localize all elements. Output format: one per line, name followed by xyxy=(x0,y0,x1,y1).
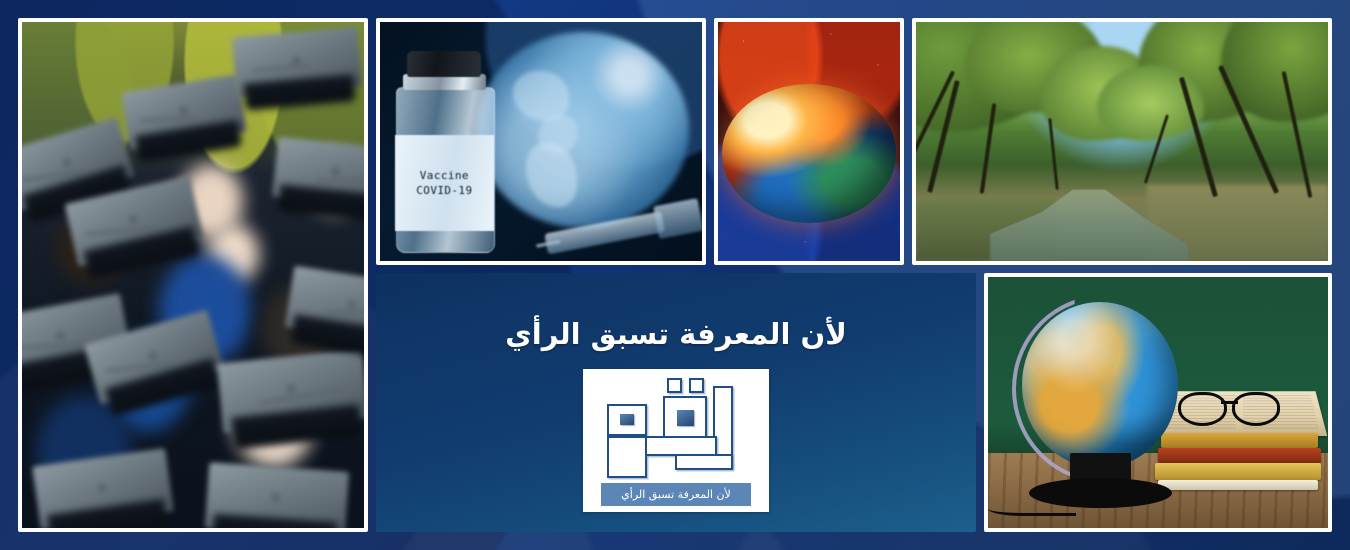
collage-banner: Vaccine COVID-19 xyxy=(0,0,1350,550)
mortarboard-cap xyxy=(121,74,247,150)
logo-box-tall xyxy=(607,436,647,478)
continent-silhouettes xyxy=(502,65,631,213)
slogan-banner[interactable]: لأن المعرفة تسبق الرأي xyxy=(376,273,976,532)
book-spine xyxy=(1158,448,1321,463)
covid-vaccine-photo[interactable]: Vaccine COVID-19 xyxy=(376,18,706,265)
vial-label-line2: COVID-19 xyxy=(416,184,472,197)
logo-bar-base xyxy=(675,454,733,470)
logo-fill-square xyxy=(677,410,694,426)
panel-frame: Vaccine COVID-19 xyxy=(18,18,1332,532)
power-cord xyxy=(988,498,1076,516)
globe-books-photo[interactable] xyxy=(984,273,1332,532)
mortarboard-cap xyxy=(205,462,349,532)
vaccine-vial: Vaccine COVID-19 xyxy=(393,51,496,252)
mortarboard-cap xyxy=(217,349,368,434)
logo-glyph xyxy=(601,378,751,478)
logo-tagline: لأن المعرفة تسبق الرأي xyxy=(601,483,751,506)
mortarboard-cap xyxy=(285,266,368,347)
logo-fill-square xyxy=(620,414,634,425)
desk-photo-surface xyxy=(988,277,1328,528)
vaccine-photo-surface: Vaccine COVID-19 xyxy=(380,22,702,261)
book-pages xyxy=(1158,480,1318,490)
site-logo[interactable]: لأن المعرفة تسبق الرأي xyxy=(583,369,769,512)
vial-label: Vaccine COVID-19 xyxy=(395,135,494,231)
logo-dot xyxy=(689,378,704,393)
graduation-photo-surface xyxy=(22,22,364,528)
vial-label-line1: Vaccine xyxy=(420,169,469,182)
reading-glasses xyxy=(1178,392,1280,420)
climate-globe-photo[interactable] xyxy=(714,18,904,265)
riparian-forest-photo[interactable] xyxy=(912,18,1332,265)
book-spine xyxy=(1155,463,1322,481)
mortarboard-cap xyxy=(272,137,368,209)
graduation-caps-photo[interactable] xyxy=(18,18,368,532)
logo-dot xyxy=(667,378,682,393)
mortarboard-cap xyxy=(232,27,363,98)
banner-slogan-text: لأن المعرفة تسبق الرأي xyxy=(505,317,847,351)
climate-photo-surface xyxy=(718,22,900,261)
burning-earth-globe xyxy=(722,84,897,223)
book-spine xyxy=(1161,433,1317,448)
logo-bar-lam xyxy=(645,436,717,456)
forest-photo-surface xyxy=(916,22,1328,261)
